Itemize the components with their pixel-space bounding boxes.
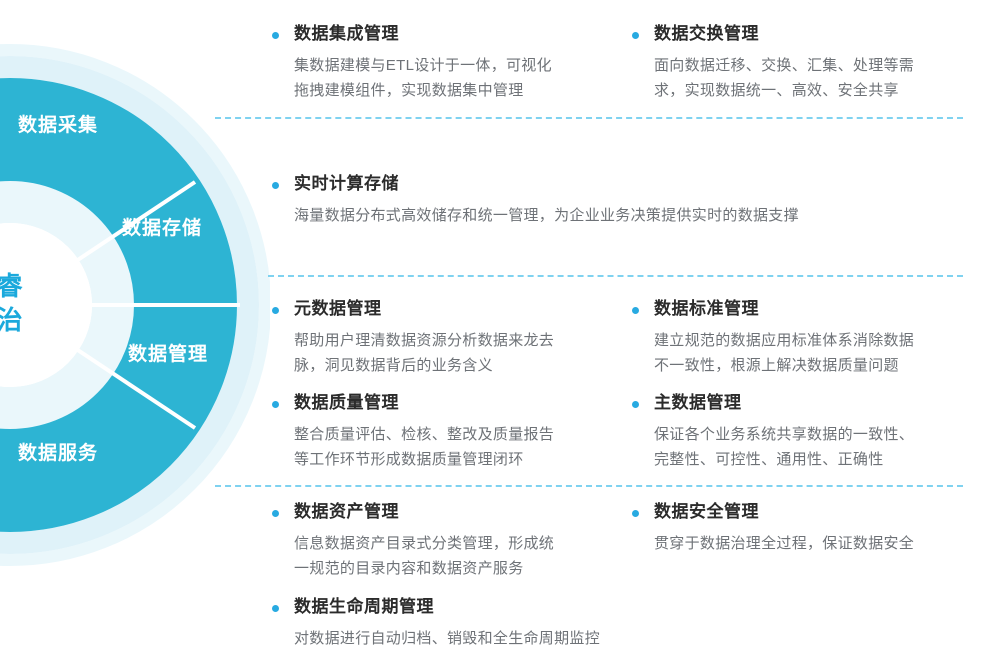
capability-desc: 对数据进行自动归档、销毁和全生命周期监控 <box>294 626 692 651</box>
bullet-icon <box>272 510 279 517</box>
data-governance-wheel: 数据采集 数据存储 数据管理 数据服务 睿 治 <box>0 0 270 669</box>
capability-item-master-data-management[interactable]: 主数据管理 保证各个业务系统共享数据的一致性、 完整性、可控性、通用性、正确性 <box>632 391 982 472</box>
wheel-segment-label-1: 数据存储 <box>122 216 202 239</box>
bullet-icon <box>632 307 639 314</box>
section-divider-3 <box>215 485 963 487</box>
capability-desc: 保证各个业务系统共享数据的一致性、 完整性、可控性、通用性、正确性 <box>654 422 982 472</box>
capability-desc: 信息数据资产目录式分类管理，形成统 一规范的目录内容和数据资产服务 <box>294 531 622 581</box>
capability-item-data-exchange[interactable]: 数据交换管理 面向数据迁移、交换、汇集、处理等需 求，实现数据统一、高效、安全共… <box>632 22 982 103</box>
bullet-icon <box>272 32 279 39</box>
wheel-segment-label-2: 数据管理 <box>128 342 208 365</box>
capability-item-data-security-management[interactable]: 数据安全管理 贯穿于数据治理全过程，保证数据安全 <box>632 500 982 556</box>
capability-desc: 贯穿于数据治理全过程，保证数据安全 <box>654 531 982 556</box>
capability-title: 数据安全管理 <box>654 500 982 524</box>
wheel-segment-label-3: 数据服务 <box>18 441 98 464</box>
capability-title: 数据标准管理 <box>654 297 982 321</box>
capability-title: 元数据管理 <box>294 297 622 321</box>
capability-title: 数据生命周期管理 <box>294 595 692 619</box>
brand-core-line-1: 睿 <box>0 271 24 301</box>
capability-item-metadata-management[interactable]: 元数据管理 帮助用户理清数据资源分析数据来龙去 脉，洞见数据背后的业务含义 <box>272 297 622 378</box>
diagram-canvas: 数据采集 数据存储 数据管理 数据服务 睿 治 数据集成管理 集数据建模与ETL… <box>0 0 986 669</box>
capability-desc: 整合质量评估、检核、整改及质量报告 等工作环节形成数据质量管理闭环 <box>294 422 622 472</box>
bullet-icon <box>272 307 279 314</box>
capability-desc: 集数据建模与ETL设计于一体，可视化 拖拽建模组件，实现数据集中管理 <box>294 53 622 103</box>
capability-title: 数据资产管理 <box>294 500 622 524</box>
capability-item-realtime-compute-storage[interactable]: 实时计算存储 海量数据分布式高效储存和统一管理，为企业业务决策提供实时的数据支撑 <box>272 172 972 228</box>
capability-desc: 面向数据迁移、交换、汇集、处理等需 求，实现数据统一、高效、安全共享 <box>654 53 982 103</box>
section-divider-2 <box>268 275 963 277</box>
capability-item-data-standard-management[interactable]: 数据标准管理 建立规范的数据应用标准体系消除数据 不一致性，根源上解决数据质量问… <box>632 297 982 378</box>
wheel-segment-label-0: 数据采集 <box>18 113 98 136</box>
capability-desc: 建立规范的数据应用标准体系消除数据 不一致性，根源上解决数据质量问题 <box>654 328 982 378</box>
capability-item-data-asset-management[interactable]: 数据资产管理 信息数据资产目录式分类管理，形成统 一规范的目录内容和数据资产服务 <box>272 500 622 581</box>
capability-item-data-quality-management[interactable]: 数据质量管理 整合质量评估、检核、整改及质量报告 等工作环节形成数据质量管理闭环 <box>272 391 622 472</box>
brand-core-line-2: 治 <box>0 305 24 335</box>
capability-title: 数据交换管理 <box>654 22 982 46</box>
bullet-icon <box>632 32 639 39</box>
section-divider-1 <box>215 117 963 119</box>
bullet-icon <box>632 510 639 517</box>
bullet-icon <box>632 401 639 408</box>
bullet-icon <box>272 182 279 189</box>
capability-desc: 海量数据分布式高效储存和统一管理，为企业业务决策提供实时的数据支撑 <box>294 203 972 228</box>
capability-desc: 帮助用户理清数据资源分析数据来龙去 脉，洞见数据背后的业务含义 <box>294 328 622 378</box>
capability-title: 数据质量管理 <box>294 391 622 415</box>
bullet-icon <box>272 605 279 612</box>
capability-title: 实时计算存储 <box>294 172 972 196</box>
capability-title: 数据集成管理 <box>294 22 622 46</box>
capability-item-data-lifecycle-management[interactable]: 数据生命周期管理 对数据进行自动归档、销毁和全生命周期监控 <box>272 595 692 651</box>
capability-item-data-integration[interactable]: 数据集成管理 集数据建模与ETL设计于一体，可视化 拖拽建模组件，实现数据集中管… <box>272 22 622 103</box>
bullet-icon <box>272 401 279 408</box>
capability-title: 主数据管理 <box>654 391 982 415</box>
